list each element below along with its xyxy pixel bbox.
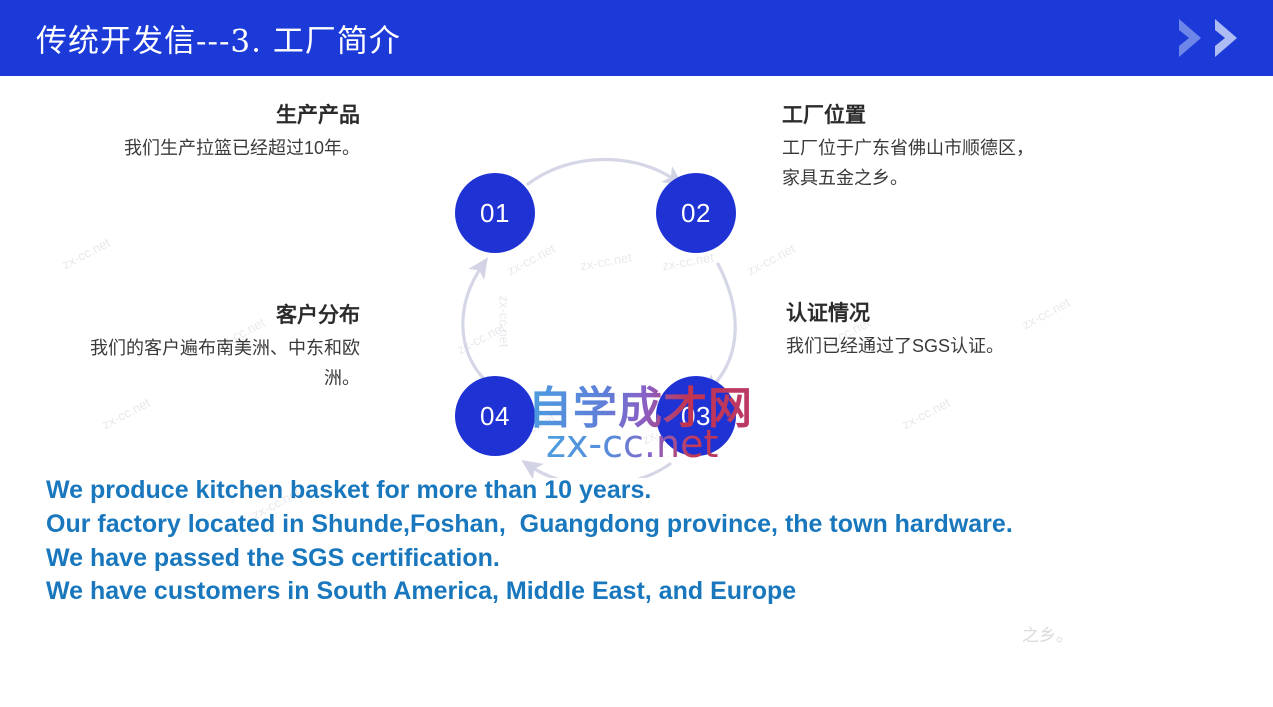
cycle-node-04: 04 (455, 376, 535, 456)
info-block-body: 我们的客户遍布南美洲、中东和欧洲。 (70, 334, 360, 393)
info-block-body: 我们生产拉篮已经超过10年。 (60, 134, 360, 164)
double-chevron-right-icon (1175, 15, 1245, 61)
info-block-location: 工厂位置 工厂位于广东省佛山市顺德区，家具五金之乡。 (782, 102, 1042, 194)
page-title: 传统开发信---3. 工厂简介 (36, 16, 401, 61)
english-line: We produce kitchen basket for more than … (46, 474, 1056, 508)
info-block-production: 生产产品 我们生产拉篮已经超过10年。 (60, 102, 360, 164)
arrow-01-to-02 (528, 159, 675, 184)
english-line: We have passed the SGS certification. (46, 542, 1056, 576)
info-block-title: 客户分布 (70, 302, 360, 330)
cycle-node-label: 04 (480, 401, 510, 432)
cycle-node-label: 03 (681, 401, 711, 432)
cycle-node-03: 03 (656, 376, 736, 456)
ghost-residual-text: 之乡。 (1022, 621, 1073, 646)
cycle-node-02: 02 (656, 173, 736, 253)
cycle-diagram: 01 02 03 04 (430, 88, 770, 478)
info-block-title: 工厂位置 (782, 102, 1042, 130)
info-block-title: 生产产品 (60, 102, 360, 130)
arrow-02-to-03 (711, 264, 735, 388)
arrow-04-to-01 (463, 266, 485, 380)
info-block-body: 我们已经通过了SGS认证。 (786, 332, 1056, 362)
slide-canvas: 传统开发信---3. 工厂简介 zx-cc.net zx-cc.net zx-c… (0, 0, 1273, 707)
slide-header-bar: 传统开发信---3. 工厂简介 (0, 0, 1273, 76)
info-block-body: 工厂位于广东省佛山市顺德区，家具五金之乡。 (782, 134, 1042, 193)
cycle-node-label: 01 (480, 198, 510, 229)
info-block-title: 认证情况 (786, 300, 1056, 328)
cycle-node-01: 01 (455, 173, 535, 253)
info-block-customers: 客户分布 我们的客户遍布南美洲、中东和欧洲。 (70, 302, 360, 394)
english-line: Our factory located in Shunde,Foshan, Gu… (46, 508, 1056, 542)
english-summary-block: We produce kitchen basket for more than … (46, 474, 1056, 609)
cycle-node-label: 02 (681, 198, 711, 229)
info-block-certification: 认证情况 我们已经通过了SGS认证。 (786, 300, 1056, 362)
slide-content: 生产产品 我们生产拉篮已经超过10年。 工厂位置 工厂位于广东省佛山市顺德区，家… (0, 76, 1273, 707)
english-line: We have customers in South America, Midd… (46, 575, 1056, 609)
